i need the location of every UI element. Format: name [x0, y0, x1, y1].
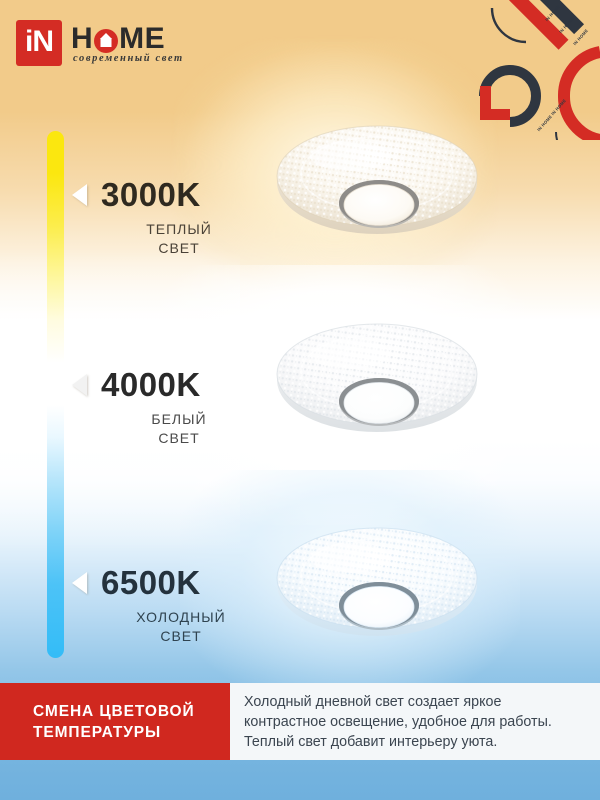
- temperature-label-neutral: БЕЛЫЙ СВЕТ: [94, 410, 264, 448]
- logo-mark-text: iN: [16, 20, 62, 66]
- temperature-row: 6500K: [72, 566, 276, 599]
- left-triangle-icon: [72, 572, 87, 594]
- temperature-row: 3000K: [72, 178, 264, 211]
- temperature-block-warm: 3000K ТЕПЛЫЙ СВЕТ: [72, 178, 264, 258]
- house-in-circle-icon: [94, 29, 118, 53]
- banner-title-line2: ТЕМПЕРАТУРЫ: [33, 722, 230, 743]
- ceiling-lamp-neutral-light: [272, 318, 482, 448]
- temperature-block-cool: 6500K ХОЛОДНЫЙ СВЕТ: [72, 566, 276, 646]
- logo-tagline: современный свет: [73, 53, 184, 64]
- temperature-label-cool: ХОЛОДНЫЙ СВЕТ: [86, 608, 276, 646]
- logo-wordmark: H ME: [71, 22, 184, 56]
- poster-root: iN H ME современный свет: [0, 0, 600, 800]
- color-temperature-scale-bar: [47, 131, 64, 658]
- temperature-label-line2: СВЕТ: [86, 627, 276, 646]
- brand-logo: iN H ME современный свет: [16, 20, 184, 66]
- logo-word-part2: ME: [119, 22, 165, 56]
- banner-title-line1: СМЕНА ЦВЕТОВОЙ: [33, 701, 230, 722]
- ceiling-lamp-warm-light: [272, 120, 482, 250]
- logo-word-part1: H: [71, 22, 93, 56]
- banner-description-panel: Холодный дневной свет создает яркое конт…: [230, 683, 600, 760]
- banner-title-panel: СМЕНА ЦВЕТОВОЙ ТЕМПЕРАТУРЫ: [0, 683, 230, 760]
- temperature-row: 4000K: [72, 368, 264, 401]
- temperature-block-neutral: 4000K БЕЛЫЙ СВЕТ: [72, 368, 264, 448]
- bottom-banner: СМЕНА ЦВЕТОВОЙ ТЕМПЕРАТУРЫ Холодный днев…: [0, 683, 600, 760]
- temperature-label-line2: СВЕТ: [94, 239, 264, 258]
- temperature-label-line1: ХОЛОДНЫЙ: [86, 608, 276, 627]
- left-triangle-icon: [72, 184, 87, 206]
- kelvin-value-neutral: 4000K: [101, 368, 201, 401]
- logo-mark-square: iN: [16, 20, 62, 66]
- left-triangle-icon: [72, 374, 87, 396]
- ceiling-lamp-cool-light: [272, 522, 482, 652]
- in-home-corner-pattern: IN HOME IN HOME IN HOME IN HOME IN HOME …: [460, 0, 600, 140]
- temperature-label-line1: БЕЛЫЙ: [94, 410, 264, 429]
- temperature-label-line1: ТЕПЛЫЙ: [94, 220, 264, 239]
- banner-description: Холодный дневной свет создает яркое конт…: [244, 692, 586, 752]
- kelvin-value-cool: 6500K: [101, 566, 201, 599]
- temperature-label-line2: СВЕТ: [94, 429, 264, 448]
- logo-wordmark-group: H ME современный свет: [71, 20, 184, 64]
- kelvin-value-warm: 3000K: [101, 178, 201, 211]
- temperature-label-warm: ТЕПЛЫЙ СВЕТ: [94, 220, 264, 258]
